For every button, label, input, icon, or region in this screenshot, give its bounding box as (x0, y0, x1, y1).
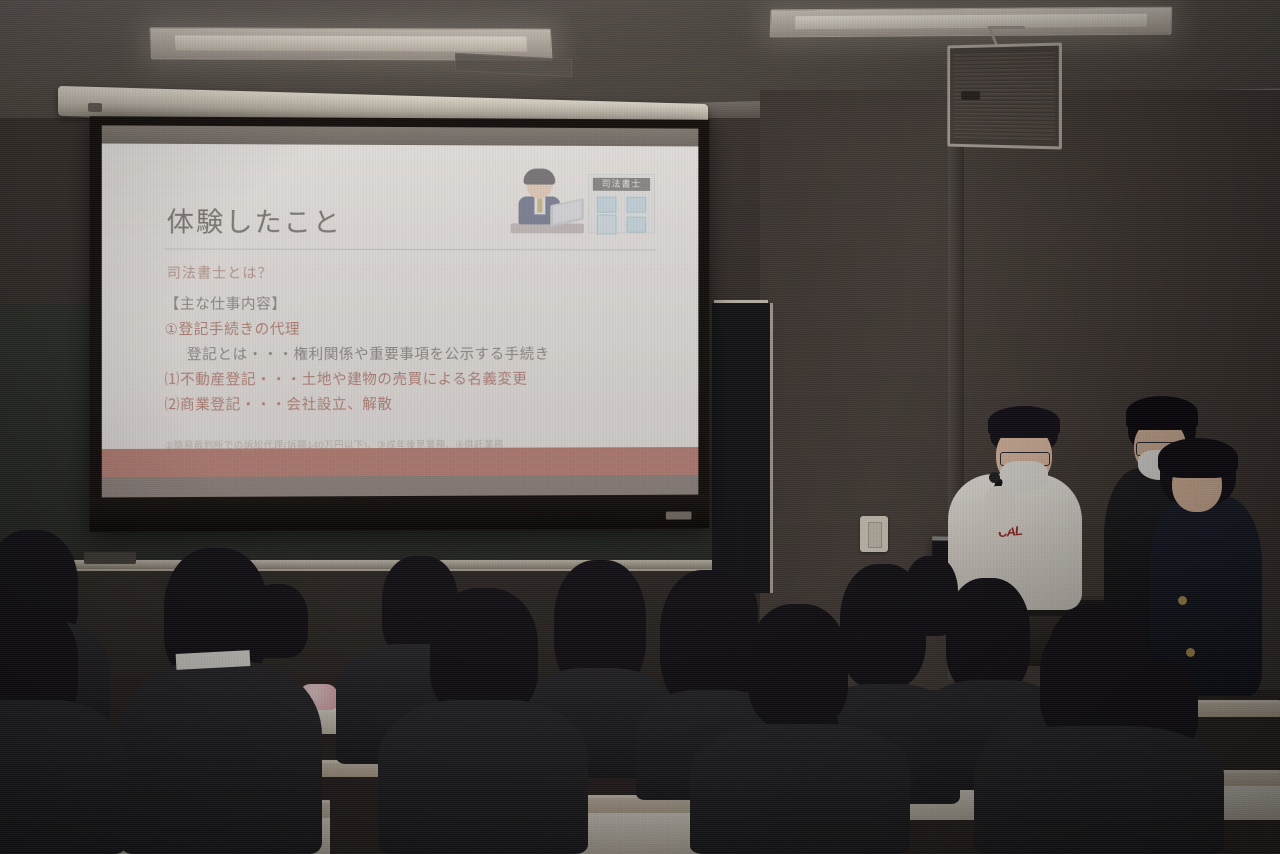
title-divider (165, 249, 656, 251)
microphone-head (989, 472, 1000, 483)
wall-speaker (947, 42, 1062, 149)
slide-title: 体験したこと (167, 200, 342, 240)
slide-subtitle: 司法書士とは？ (167, 263, 273, 283)
slide-section-heading: 【主な仕事内容】 (165, 293, 673, 318)
man-at-laptop-icon (511, 167, 582, 233)
office-building-icon: 司法書士 (588, 174, 655, 234)
slide-body-line: ⑵商業登記・・・会社設立、解散 (165, 392, 673, 418)
projection-screen: 司法書士 体験したこと 司法書士とは？ 【主な仕事内容】 ①登記手続きの代理 登… (90, 116, 710, 532)
uniform-torso (690, 724, 910, 854)
hair-top (1126, 396, 1198, 430)
wall-panel-dark (712, 303, 773, 593)
slide-body-line: ⑴不動産登記・・・土地や建物の売買による名義変更 (165, 368, 673, 394)
hair (524, 169, 556, 185)
slide-base-band (102, 475, 699, 498)
hair (904, 556, 958, 636)
door (597, 215, 617, 235)
hair-top (988, 406, 1060, 438)
screen-bottom-bar (90, 495, 710, 532)
window (597, 197, 617, 213)
slide-body: 【主な仕事内容】 ①登記手続きの代理 登記とは・・・権利関係や重要事項を公示する… (165, 293, 673, 419)
fluorescent-fixture-right-icon (770, 7, 1173, 38)
slide-accent-band (102, 447, 699, 477)
blazer-button (1186, 648, 1195, 657)
presentation-slide: 司法書士 体験したこと 司法書士とは？ 【主な仕事内容】 ①登記手続きの代理 登… (102, 144, 699, 498)
hand-holding-mic (985, 486, 1015, 532)
light-tube (795, 13, 1147, 29)
hair (430, 588, 538, 716)
desk-shape (511, 223, 584, 233)
light-tube (175, 35, 527, 52)
screen-label-tag (666, 511, 692, 519)
blazer-button (1178, 596, 1187, 605)
window (626, 217, 646, 233)
light-switch-rocker[interactable] (868, 522, 882, 548)
uniform-torso (0, 700, 126, 854)
tie (537, 198, 542, 212)
light-switch-plate[interactable] (860, 516, 888, 552)
hair (1040, 616, 1152, 742)
uniform-torso (378, 700, 588, 854)
hair (696, 576, 758, 654)
uniform-torso (974, 726, 1224, 854)
hair-top (1158, 438, 1238, 478)
uniform-torso (120, 662, 322, 854)
building-sign-text: 司法書士 (593, 178, 650, 191)
laptop-screen (553, 201, 581, 224)
roller-cap (88, 103, 102, 112)
hair (946, 578, 1030, 694)
lecture-hall-photo: 司法書士 体験したこと 司法書士とは？ 【主な仕事内容】 ①登記手続きの代理 登… (0, 0, 1280, 854)
building-sign: 司法書士 (593, 178, 650, 191)
chalk-eraser (84, 552, 136, 564)
window (626, 197, 646, 213)
judicial-scrivener-illustration: 司法書士 (507, 167, 655, 233)
speaker-knob (961, 91, 980, 100)
hair (248, 584, 308, 658)
slide-body-line: 登記とは・・・権利関係や重要事項を公示する手続き (165, 343, 673, 368)
slide-body-line: ①登記手続きの代理 (165, 318, 673, 343)
